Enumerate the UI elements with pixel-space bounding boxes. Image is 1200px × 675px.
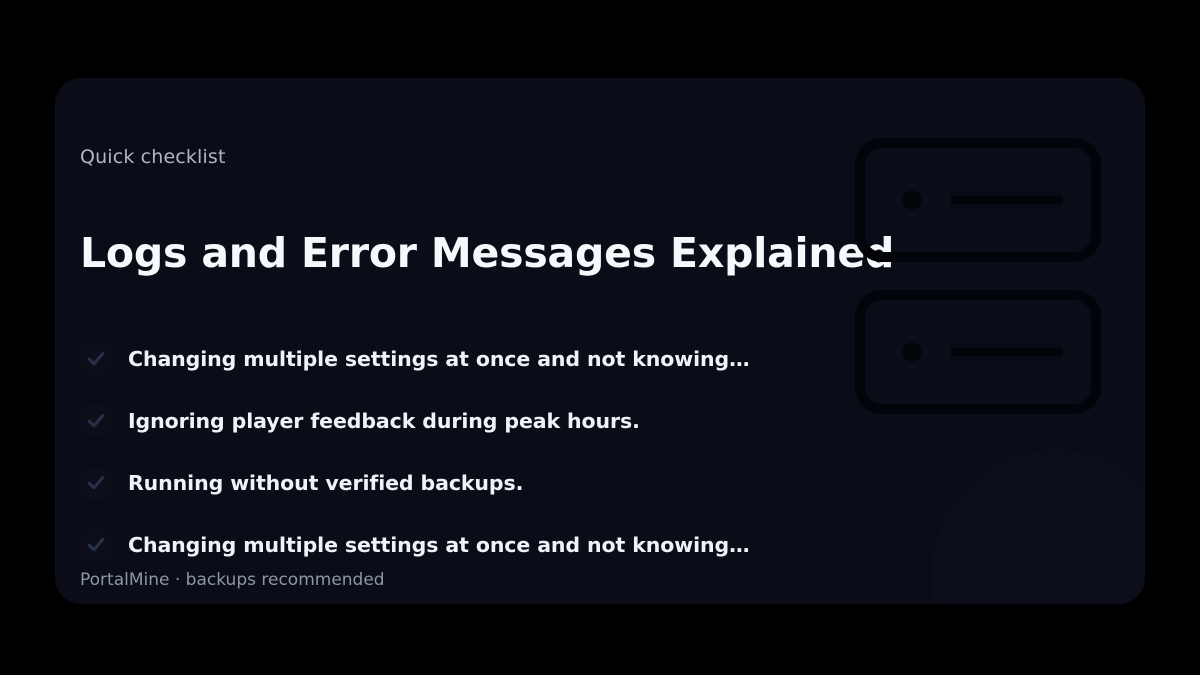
list-item-label: Changing multiple settings at once and n… [128,347,750,371]
page-title: Logs and Error Messages Explained [80,229,894,277]
list-item[interactable]: Running without verified backups. [80,452,780,514]
checkbox-checked-icon[interactable] [80,405,112,437]
decorative-icon-stack [855,138,1107,414]
list-item-label: Ignoring player feedback during peak hou… [128,409,640,433]
server-rack-icon [855,290,1101,414]
slide-canvas: Quick checklist Logs and Error Messages … [0,0,1200,675]
checkbox-checked-icon[interactable] [80,529,112,561]
checkbox-checked-icon[interactable] [80,343,112,375]
checklist: Changing multiple settings at once and n… [80,328,780,576]
list-item[interactable]: Ignoring player feedback during peak hou… [80,390,780,452]
card-footer: PortalMine · backups recommended [80,570,385,590]
list-item-label: Running without verified backups. [128,471,523,495]
checklist-card: Quick checklist Logs and Error Messages … [55,78,1145,604]
list-item[interactable]: Changing multiple settings at once and n… [80,328,780,390]
server-rack-icon [855,138,1101,262]
checkbox-checked-icon[interactable] [80,467,112,499]
list-item-label: Changing multiple settings at once and n… [128,533,750,557]
list-item[interactable]: Changing multiple settings at once and n… [80,514,780,576]
card-eyebrow: Quick checklist [80,146,226,168]
card-content: Quick checklist Logs and Error Messages … [55,78,1145,604]
